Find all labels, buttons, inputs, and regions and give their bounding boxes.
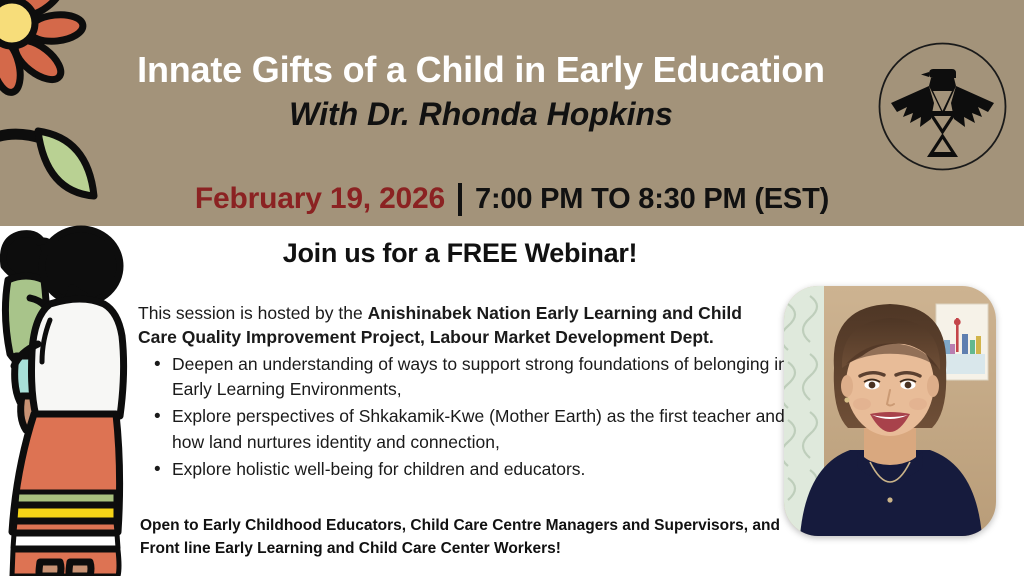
join-webinar-heading: Join us for a FREE Webinar! <box>130 238 790 269</box>
event-time: 7:00 PM TO 8:30 PM (EST) <box>475 183 829 216</box>
thunderbird-logo <box>877 41 1008 172</box>
title-block: Innate Gifts of a Child in Early Educati… <box>96 50 866 136</box>
datetime-divider <box>458 183 462 216</box>
mother-and-child-illustration <box>0 224 136 576</box>
presenter-headshot <box>784 286 996 536</box>
hosted-by-prefix: This session is hosted by the <box>138 303 368 323</box>
presenter-subtitle: With Dr. Rhonda Hopkins <box>96 94 866 136</box>
webinar-poster: Innate Gifts of a Child in Early Educati… <box>0 0 1024 576</box>
session-objectives-list: Deepen an understanding of ways to suppo… <box>146 352 802 484</box>
list-item: Explore holistic well-being for children… <box>172 457 802 482</box>
page-title: Innate Gifts of a Child in Early Educati… <box>96 50 866 90</box>
event-date: February 19, 2026 <box>195 182 445 216</box>
audience-paragraph: Open to Early Childhood Educators, Child… <box>140 514 790 561</box>
list-item: Deepen an understanding of ways to suppo… <box>172 352 802 402</box>
datetime-row: February 19, 2026 7:00 PM TO 8:30 PM (ES… <box>0 182 1024 216</box>
flower-with-leaf-illustration <box>0 0 136 220</box>
hosted-by-paragraph: This session is hosted by the Anishinabe… <box>138 301 783 351</box>
list-item: Explore perspectives of Shkakamik-Kwe (M… <box>172 404 802 454</box>
